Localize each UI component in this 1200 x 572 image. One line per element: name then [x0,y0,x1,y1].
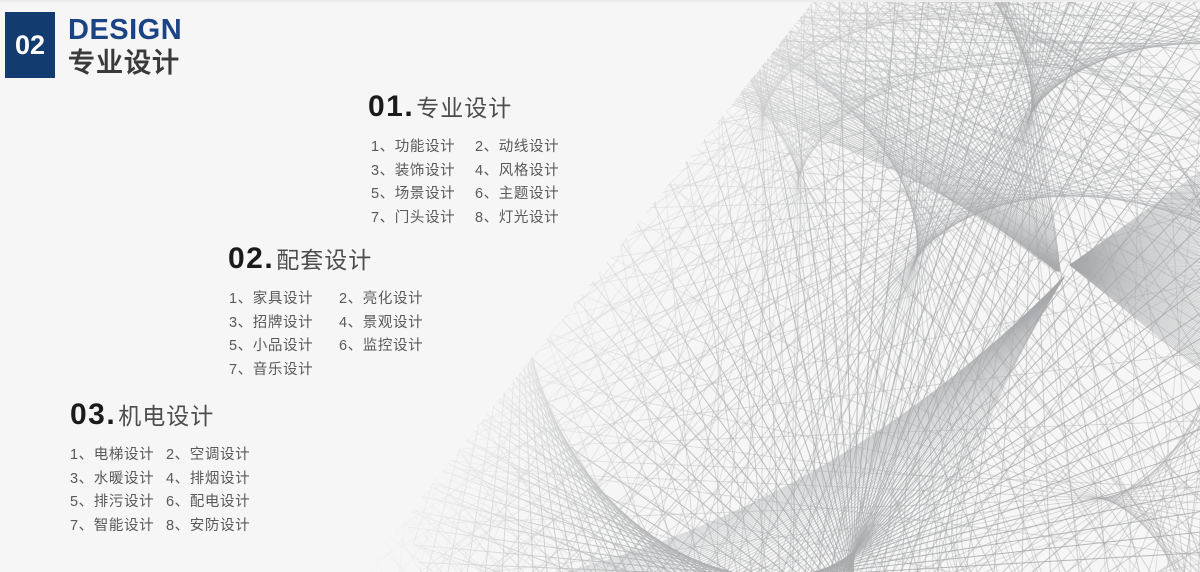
list-cell: 3、招牌设计 [229,312,339,336]
group-title: 02. 配套设计 [228,244,423,274]
list-cell: 2、亮化设计 [339,288,423,312]
list-cell: 1、功能设计 [371,136,475,160]
list-cell: 7、门头设计 [371,207,475,231]
list-cell: 4、风格设计 [475,160,559,184]
group-index-number: 03. [70,400,116,430]
list-cell: 4、景观设计 [339,312,423,336]
page-title-cn: 专业设计 [68,48,182,79]
group-item-list: 1、家具设计 2、亮化设计 3、招牌设计 4、景观设计 5、小品设计 6、监控设… [229,288,423,382]
group-item-list: 1、电梯设计 2、空调设计 3、水暖设计 4、排烟设计 5、排污设计 6、配电设… [70,444,250,538]
group-title-label: 配套设计 [276,249,372,272]
header-title-block: DESIGN 专业设计 [68,14,182,80]
list-cell: 2、空调设计 [166,444,250,468]
section-number-badge: 02 [5,12,55,78]
list-cell: 5、场景设计 [371,183,475,207]
group-item-list: 1、功能设计 2、动线设计 3、装饰设计 4、风格设计 5、场景设计 6、主题设… [371,136,559,230]
list-cell: 6、监控设计 [339,335,423,359]
content-group-02: 02. 配套设计 1、家具设计 2、亮化设计 3、招牌设计 4、景观设计 5、小… [228,244,423,382]
list-item: 3、水暖设计 4、排烟设计 [70,468,250,492]
list-cell: 5、排污设计 [70,491,166,515]
list-cell: 1、电梯设计 [70,444,166,468]
list-item: 5、小品设计 6、监控设计 [229,335,423,359]
list-item: 5、排污设计 6、配电设计 [70,491,250,515]
list-item: 3、装饰设计 4、风格设计 [371,160,559,184]
content-group-01: 01. 专业设计 1、功能设计 2、动线设计 3、装饰设计 4、风格设计 5、场… [368,92,559,230]
group-index-number: 01. [368,92,414,122]
list-cell: 8、灯光设计 [475,207,559,231]
list-item: 1、功能设计 2、动线设计 [371,136,559,160]
list-cell: 5、小品设计 [229,335,339,359]
list-item: 3、招牌设计 4、景观设计 [229,312,423,336]
group-title-label: 机电设计 [118,405,214,428]
list-cell: 7、音乐设计 [229,359,339,383]
group-title-label: 专业设计 [416,97,512,120]
group-index-number: 02. [228,244,274,274]
list-cell: 8、安防设计 [166,515,250,539]
slide-root: 02 DESIGN 专业设计 01. 专业设计 1、功能设计 2、动线设计 3、… [0,0,1200,572]
list-cell: 3、装饰设计 [371,160,475,184]
page-title-en: DESIGN [68,14,182,46]
list-item: 7、门头设计 8、灯光设计 [371,207,559,231]
list-cell: 6、配电设计 [166,491,250,515]
list-cell: 1、家具设计 [229,288,339,312]
top-edge-hairline [0,0,1200,2]
list-item: 1、家具设计 2、亮化设计 [229,288,423,312]
list-item: 7、音乐设计 [229,359,423,383]
list-cell: 6、主题设计 [475,183,559,207]
list-cell: 4、排烟设计 [166,468,250,492]
list-item: 5、场景设计 6、主题设计 [371,183,559,207]
content-group-03: 03. 机电设计 1、电梯设计 2、空调设计 3、水暖设计 4、排烟设计 5、排… [70,400,250,538]
list-cell: 7、智能设计 [70,515,166,539]
group-title: 03. 机电设计 [70,400,250,430]
group-title: 01. 专业设计 [368,92,559,122]
list-item: 1、电梯设计 2、空调设计 [70,444,250,468]
list-item: 7、智能设计 8、安防设计 [70,515,250,539]
list-cell: 2、动线设计 [475,136,559,160]
list-cell: 3、水暖设计 [70,468,166,492]
